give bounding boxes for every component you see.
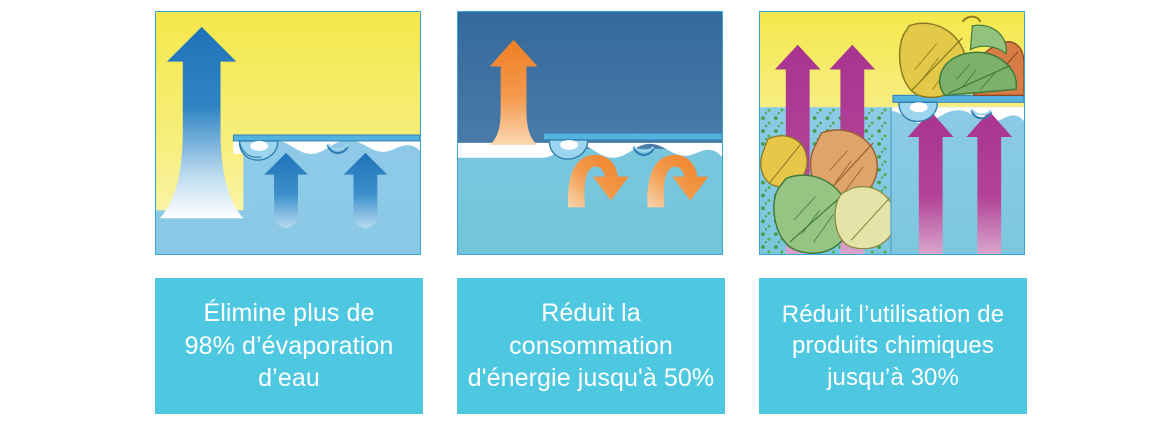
energy-loss-diagram <box>458 12 722 254</box>
figure-energy <box>457 11 723 255</box>
caption-box-evaporation: Élimine plus de 98% d’évaporation d’eau <box>155 278 423 414</box>
caption-text-energy: Réduit la consommation d'énergie jusqu'à… <box>462 297 721 395</box>
evaporation-diagram <box>156 12 420 254</box>
figure-evaporation <box>155 11 421 255</box>
figure-chemicals <box>759 11 1025 255</box>
caption-text-chemicals: Réduit l’utilisation de produits chimiqu… <box>776 299 1010 393</box>
panel-energy: Réduit la consommation d'énergie jusqu'à… <box>457 0 725 244</box>
caption-box-chemicals: Réduit l’utilisation de produits chimiqu… <box>759 278 1027 414</box>
leaf-pale-submerged <box>835 187 895 249</box>
caption-text-evaporation: Élimine plus de 98% d’évaporation d’eau <box>179 297 400 395</box>
benefits-infographic: Élimine plus de 98% d’évaporation d’eau <box>0 0 1158 443</box>
panel-chemicals: Réduit l’utilisation de produits chimiqu… <box>759 0 1027 244</box>
caption-box-energy: Réduit la consommation d'énergie jusqu'à… <box>457 278 725 414</box>
chemical-reduction-diagram <box>760 12 1024 254</box>
panel-evaporation: Élimine plus de 98% d’évaporation d’eau <box>155 0 423 244</box>
